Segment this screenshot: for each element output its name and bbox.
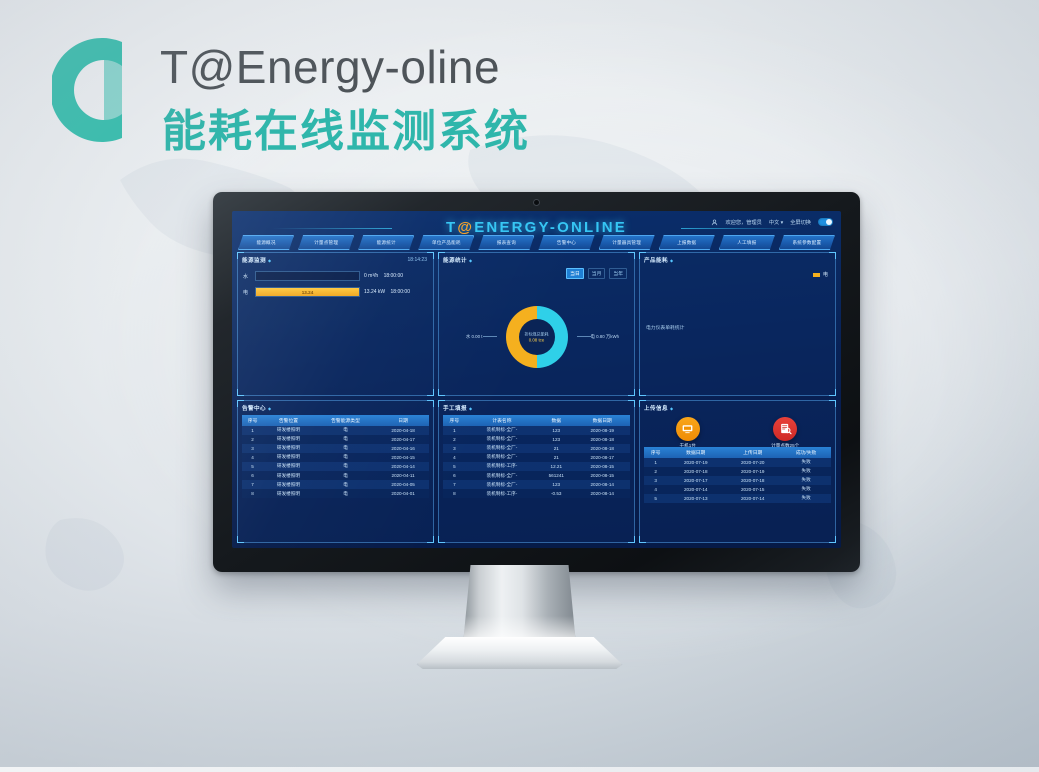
monitor-stand-base — [417, 637, 623, 669]
panel-alarm-center: 告警中心◆ 序号 告警位置 告警能源类型 日期 1研发楼照明电2020-04-1… — [237, 400, 434, 544]
manual-col-0: 序号 — [443, 415, 466, 426]
brand-suffix: ENERGY-ONLINE — [474, 219, 627, 236]
status-badge: 失败 — [781, 467, 831, 476]
energy-row-electric-bar: 13.24 — [255, 287, 360, 297]
table-row[interactable]: 7装机制标-全厂-1232020-08-14 — [443, 480, 630, 489]
alarm-col-1: 告警位置 — [263, 415, 314, 426]
table-row[interactable]: 2装机制标-全厂-1232020-08-18 — [443, 435, 630, 444]
upload-col-3: 成功/失败 — [781, 447, 831, 458]
brand-prefix: T — [446, 219, 457, 236]
panel-upload-info: 上传信息◆ 干机1台 计量点数25个 — [639, 400, 836, 544]
user-name[interactable]: 欢迎您，管理员 — [725, 219, 761, 226]
donut-center-text: 折标煤总能耗 0.08 tce — [525, 331, 549, 342]
dashboard-screen: T@ENERGY-ONLINE 欢迎您，管理员 中文 ▾ 全屏切换 能源概况 计… — [232, 211, 841, 548]
nav-item-1[interactable]: 计量点管理 — [298, 235, 354, 250]
panel-title-statistics: 能源统计◆ — [443, 256, 472, 264]
upload-table: 序号 数据日期 上传日期 成功/失败 12020-07-192020-07-20… — [644, 447, 831, 503]
energy-row-water-reading: 0 m³/h 18:00:00 — [364, 273, 428, 279]
alarm-table-body: 1研发楼照明电2020-04-18 2研发楼照明电2020-04-17 3研发楼… — [242, 426, 429, 499]
gateway-icon — [676, 417, 700, 441]
table-row[interactable]: 32020-07-172020-07-18失败 — [644, 476, 831, 485]
letter-c-logo-icon — [52, 34, 130, 146]
monitor-device: T@ENERGY-ONLINE 欢迎您，管理员 中文 ▾ 全屏切换 能源概况 计… — [213, 192, 860, 572]
donut-label-water: 水 0.00 t — [466, 334, 497, 340]
dashboard-grid: 能源监测◆ 18:14:23 水 0 m³/h 18:00:00 电 13.24 — [237, 252, 836, 543]
panel-title-product-energy: 产品能耗◆ — [644, 256, 673, 264]
alarm-table: 序号 告警位置 告警能源类型 日期 1研发楼照明电2020-04-18 2研发楼… — [242, 415, 429, 499]
status-badge: 失败 — [781, 485, 831, 494]
donut-ring: 折标煤总能耗 0.08 tce — [506, 306, 568, 368]
tab-period-year[interactable]: 当年 — [609, 268, 627, 279]
table-row[interactable]: 22020-07-182020-07-19失败 — [644, 467, 831, 476]
nav-item-2[interactable]: 能源统计 — [358, 235, 414, 250]
table-row[interactable]: 3研发楼照明电2020-04-16 — [242, 444, 429, 453]
table-row[interactable]: 52020-07-132020-07-14失败 — [644, 494, 831, 503]
manual-table-body: 1装机制标-全厂-1232020-08-19 2装机制标-全厂-1232020-… — [443, 426, 630, 499]
alarm-col-2: 告警能源类型 — [314, 415, 377, 426]
alarm-col-0: 序号 — [242, 415, 263, 426]
nav-item-0[interactable]: 能源概况 — [238, 235, 294, 250]
statistics-period-tabs[interactable]: 当日 当月 当年 — [566, 268, 627, 279]
brand-at-symbol: @ — [457, 219, 474, 236]
energy-row-water: 水 0 m³/h 18:00:00 — [243, 271, 428, 281]
panel-title-upload-info: 上传信息◆ — [644, 404, 673, 412]
panel-title-energy-monitor: 能源监测◆ — [242, 256, 271, 264]
fullscreen-toggle-label: 全屏切换 — [790, 219, 811, 226]
table-row[interactable]: 1研发楼照明电2020-04-18 — [242, 426, 429, 435]
alarm-table-header: 序号 告警位置 告警能源类型 日期 — [242, 415, 429, 426]
nav-item-6[interactable]: 计量器具管理 — [599, 235, 655, 250]
table-row[interactable]: 4研发楼照明电2020-04-15 — [242, 453, 429, 462]
nav-item-5[interactable]: 告警中心 — [538, 235, 594, 250]
monitor-bezel: T@ENERGY-ONLINE 欢迎您，管理员 中文 ▾ 全屏切换 能源概况 计… — [213, 192, 860, 572]
manual-col-2: 数据 — [538, 415, 574, 426]
donut-center-value: 0.08 tce — [525, 337, 549, 342]
upload-col-0: 序号 — [644, 447, 667, 458]
panel-energy-statistics: 能源统计◆ 当日 当月 当年 水 0.00 t 折标煤总能耗 0.08 tce — [438, 252, 635, 396]
legend-swatch-electric — [813, 273, 820, 277]
nav-item-9[interactable]: 系统参数配置 — [779, 235, 835, 250]
energy-row-electric-bar-value: 13.24 — [256, 288, 359, 296]
user-icon — [711, 219, 718, 226]
upload-table-header: 序号 数据日期 上传日期 成功/失败 — [644, 447, 831, 458]
fullscreen-toggle[interactable] — [818, 218, 833, 226]
hero-header: T@Energy-oline 能耗在线监测系统 — [52, 22, 652, 162]
alarm-col-3: 日期 — [377, 415, 429, 426]
product-energy-note: 电力仪表单耗统计 — [646, 324, 684, 331]
energy-row-electric: 电 13.24 13.24 kW 18:00:00 — [243, 287, 428, 297]
table-row[interactable]: 5装机制标-工序-12.212020-08-15 — [443, 462, 630, 471]
upload-stat-icons: 干机1台 计量点数25个 — [640, 417, 835, 449]
manual-col-1: 计表名称 — [466, 415, 538, 426]
legend-label-electric: 电 — [823, 271, 828, 278]
upload-col-1: 数据日期 — [667, 447, 724, 458]
manual-table-header: 序号 计表名称 数据 数据日期 — [443, 415, 630, 426]
user-toolbar[interactable]: 欢迎您，管理员 中文 ▾ 全屏切换 — [711, 218, 833, 226]
status-badge: 失败 — [781, 458, 831, 467]
table-row[interactable]: 5研发楼照明电2020-04-14 — [242, 462, 429, 471]
tab-period-day[interactable]: 当日 — [566, 268, 584, 279]
main-navigation[interactable]: 能源概况 计量点管理 能源统计 单位产品能耗 报表查询 告警中心 计量器具管理 … — [238, 235, 835, 250]
panel-title-manual-entry: 手工填报◆ — [443, 404, 472, 412]
table-row[interactable]: 2研发楼照明电2020-04-17 — [242, 435, 429, 444]
upload-stat-meters[interactable]: 计量点数25个 — [771, 417, 799, 449]
page-subtitle: 能耗在线监测系统 — [162, 110, 530, 154]
table-row[interactable]: 4装机制标-全厂-212020-08-17 — [443, 453, 630, 462]
report-search-icon — [773, 417, 797, 441]
upload-stat-gateway[interactable]: 干机1台 — [676, 417, 700, 449]
table-row[interactable]: 7研发楼照明电2020-04-05 — [242, 480, 429, 489]
nav-item-8[interactable]: 人工填报 — [719, 235, 775, 250]
upload-table-body: 12020-07-192020-07-20失败 22020-07-182020-… — [644, 458, 831, 503]
table-row[interactable]: 42020-07-142020-07-15失败 — [644, 485, 831, 494]
page-title: T@Energy-oline — [160, 44, 500, 90]
upload-col-2: 上传日期 — [724, 447, 781, 458]
donut-label-electric: 电 0.80 万kWh — [577, 334, 620, 340]
table-row[interactable]: 3装机制标-全厂-212020-08-18 — [443, 444, 630, 453]
manual-entry-table: 序号 计表名称 数据 数据日期 1装机制标-全厂-1232020-08-19 2… — [443, 415, 630, 499]
webcam-icon — [534, 200, 539, 205]
table-row[interactable]: 6研发楼照明电2020-04-11 — [242, 471, 429, 480]
table-row[interactable]: 6装机制标-全厂-5612412020-08-15 — [443, 471, 630, 480]
status-badge: 失败 — [781, 494, 831, 503]
energy-row-water-label: 水 — [243, 273, 251, 280]
product-legend: 电 — [813, 271, 828, 278]
energy-row-water-bar — [255, 271, 360, 281]
tab-period-month[interactable]: 当月 — [588, 268, 606, 279]
energy-row-electric-reading: 13.24 kW 18:00:00 — [364, 289, 428, 295]
panel-title-alarm-center: 告警中心◆ — [242, 404, 271, 412]
energy-donut-chart: 水 0.00 t 折标煤总能耗 0.08 tce 电 0.80 万kWh — [439, 283, 634, 391]
nav-item-4[interactable]: 报表查询 — [478, 235, 534, 250]
panel-product-energy: 产品能耗◆ 电 电力仪表单耗统计 — [639, 252, 836, 396]
table-row[interactable]: 12020-07-192020-07-20失败 — [644, 458, 831, 467]
table-row[interactable]: 8研发楼照明电2020-04-01 — [242, 489, 429, 498]
nav-item-3[interactable]: 单位产品能耗 — [418, 235, 474, 250]
manual-col-3: 数据日期 — [574, 415, 630, 426]
panel-energy-monitor: 能源监测◆ 18:14:23 水 0 m³/h 18:00:00 电 13.24 — [237, 252, 434, 396]
monitor-timestamp: 18:14:23 — [408, 257, 427, 263]
energy-row-electric-label: 电 — [243, 289, 251, 296]
panel-manual-entry: 手工填报◆ 序号 计表名称 数据 数据日期 1装机制标-全厂-1232020-0… — [438, 400, 635, 544]
status-badge: 失败 — [781, 476, 831, 485]
language-menu[interactable]: 中文 ▾ — [769, 219, 783, 226]
table-row[interactable]: 1装机制标-全厂-1232020-08-19 — [443, 426, 630, 435]
nav-item-7[interactable]: 上报数据 — [659, 235, 715, 250]
table-row[interactable]: 8装机制标-工序--0.532020-08-14 — [443, 489, 630, 498]
